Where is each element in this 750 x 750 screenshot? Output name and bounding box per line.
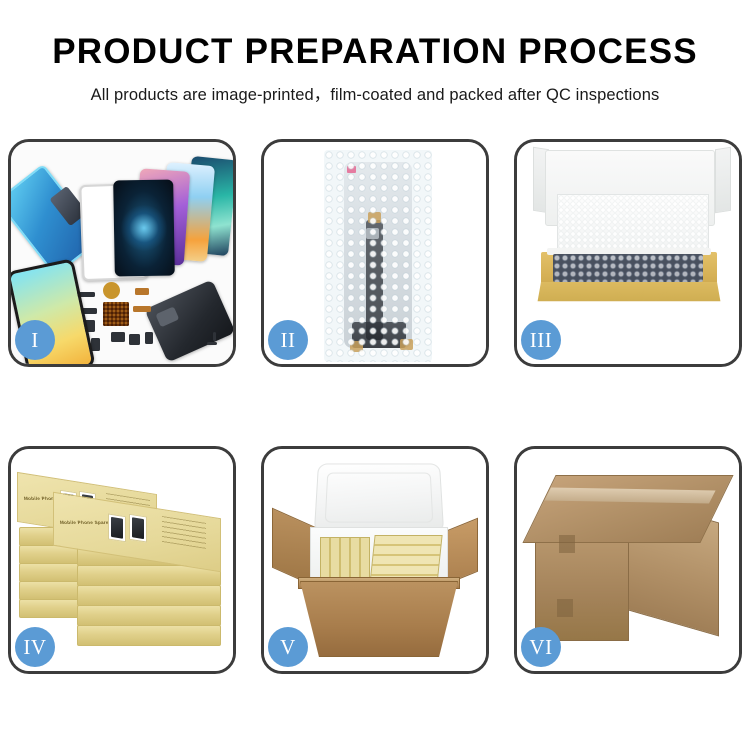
carton-face-left [535,527,629,641]
process-step-grid: I II [8,139,742,674]
part-screw-set [207,342,217,345]
header: PRODUCT PREPARATION PROCESS All products… [0,0,750,105]
step-badge-2: II [268,320,308,360]
retail-box-r3 [77,585,221,606]
bubble-texture-overlay [324,150,432,362]
box-lid-flap-right [715,147,731,214]
part-battery-connector [145,332,153,344]
phone-back-housing [144,279,233,362]
step-badge-4: IV [15,627,55,667]
process-step-panel-6: VI [514,446,742,674]
retail-box-r4 [77,605,221,626]
box-window-front-2 [129,514,147,543]
part-ribbon-cable [133,306,151,312]
page-title: PRODUCT PREPARATION PROCESS [0,34,750,69]
part-button-set [129,334,140,345]
part-flex-connector [135,288,149,295]
bubble-wrapped-contents [553,254,703,282]
process-step-panel-1: I [8,139,236,367]
part-screwdriver-bit [213,332,216,341]
part-vibrator-coil [103,282,120,299]
phone-dark-screen [113,179,175,276]
step-badge-1: I [15,320,55,360]
carton-tab-upper [559,535,575,553]
step-badge-6: VI [521,627,561,667]
white-foam-sheet [557,194,709,256]
bubble-wrap-bag [324,150,432,362]
infographic-page: PRODUCT PREPARATION PROCESS All products… [0,0,750,750]
process-step-panel-4: Mobile Phone Spare Parts Mobile Phone Sp… [8,446,236,674]
step-badge-3: III [521,320,561,360]
carton-tab-lower [557,599,573,617]
retail-box-r5 [77,625,221,646]
carton-face-top [522,475,733,543]
kraft-box-front-face [538,282,721,301]
box-checklist-front [162,516,206,549]
outer-carton-body [300,581,458,657]
styrofoam-lid [314,464,444,533]
part-taptic-engine [111,332,125,342]
step-badge-5: V [268,627,308,667]
box-window-front-1 [108,513,126,542]
process-step-panel-3: III [514,139,742,367]
process-step-panel-2: II [261,139,489,367]
page-subtitle: All products are image-printed，film-coat… [0,81,750,105]
process-step-panel-5: V [261,446,489,674]
part-logic-board [103,302,129,326]
